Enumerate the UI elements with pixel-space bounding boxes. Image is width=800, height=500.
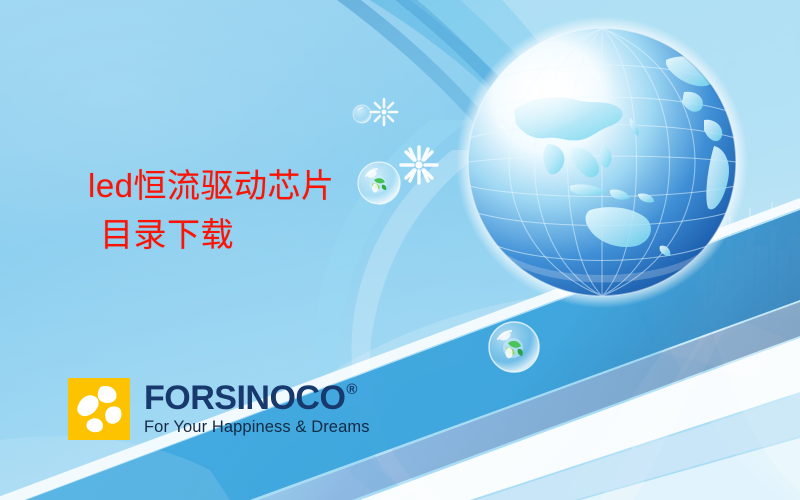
brand-logo: FORSINOCO ® For Your Happiness & Dreams xyxy=(68,378,370,440)
bubble-icon xyxy=(487,320,541,374)
logo-text-block: FORSINOCO ® For Your Happiness & Dreams xyxy=(144,381,370,436)
promo-banner: led恒流驱动芯片 目录下载 FORSINOCO ® xyxy=(0,0,800,500)
logo-tagline: For Your Happiness & Dreams xyxy=(144,418,370,436)
bubble-icon xyxy=(352,104,372,124)
page-title: led恒流驱动芯片 目录下载 xyxy=(88,162,448,260)
logo-wordmark: FORSINOCO ® xyxy=(144,381,370,415)
headline-line-1: led恒流驱动芯片 xyxy=(88,162,448,211)
logo-wordmark-text: FORSINOCO xyxy=(144,381,345,415)
four-petal-flower-icon xyxy=(68,378,130,440)
registered-trademark-icon: ® xyxy=(346,382,357,397)
headline-line-2: 目录下载 xyxy=(88,211,448,260)
globe-icon xyxy=(452,14,752,314)
